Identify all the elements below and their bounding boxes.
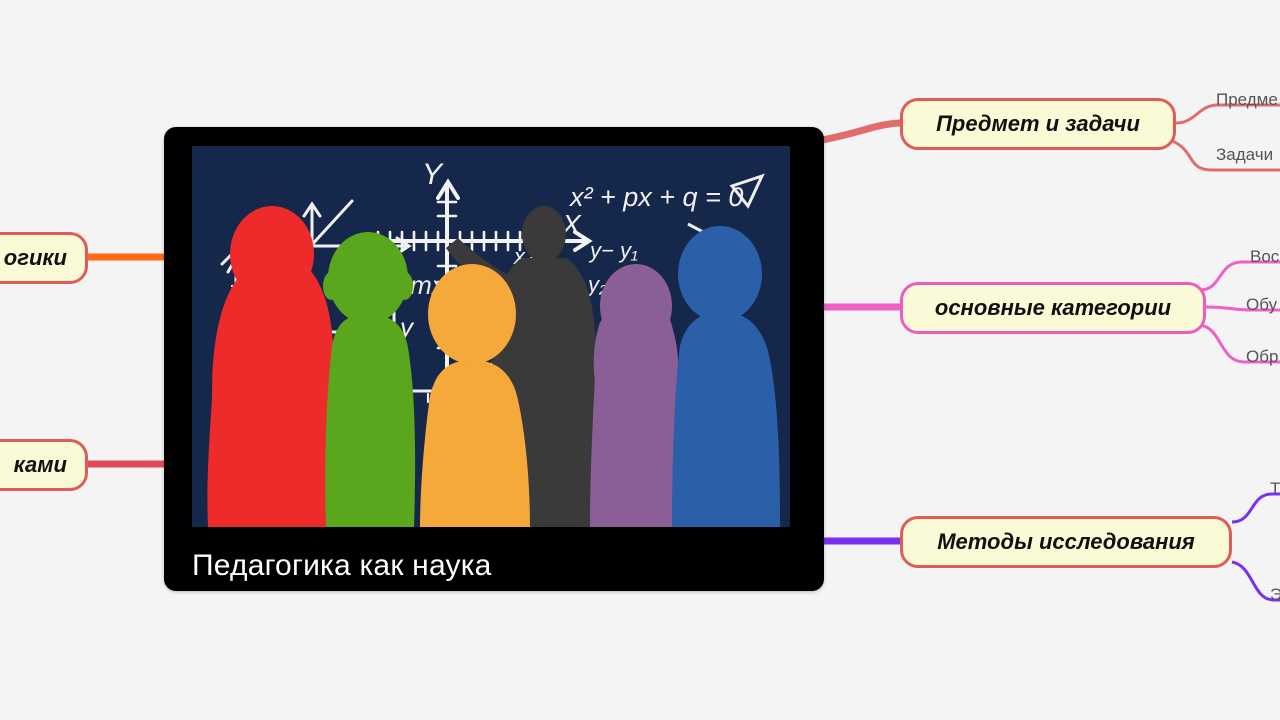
subitem-metody-0[interactable]: Т: [1270, 479, 1280, 499]
subitem-kategorii-0[interactable]: Вос: [1250, 247, 1279, 267]
center-topic-title: Педагогика как наука: [192, 549, 814, 583]
subitem-metody-1[interactable]: Э: [1270, 585, 1280, 605]
student-silhouette-green: [323, 232, 415, 527]
branch-node-predmet[interactable]: Предмет и задачи: [900, 98, 1176, 150]
branch-node-otrasli[interactable]: огики: [0, 232, 88, 284]
branch-label-kategorii: основные категории: [935, 295, 1171, 321]
branch-node-kategorii[interactable]: основные категории: [900, 282, 1206, 334]
subitem-predmet-1[interactable]: Задачи: [1216, 145, 1273, 165]
branch-label-metody: Методы исследования: [937, 529, 1195, 555]
chalkboard-illustration: Y X y=mx+c y x x x² + px + q = 0 x₁ x₂ y…: [192, 146, 790, 527]
student-silhouette-red: [207, 206, 336, 527]
link-center-to-predmet: [822, 123, 900, 140]
branch-label-svyaz: ками: [14, 452, 67, 478]
branch-label-predmet: Предмет и задачи: [936, 111, 1140, 137]
subitem-predmet-0[interactable]: Предме: [1216, 90, 1278, 110]
classroom-silhouettes: [192, 146, 790, 527]
student-silhouette-blue: [672, 226, 780, 527]
subitem-kategorii-1[interactable]: Обу: [1246, 295, 1277, 315]
subitem-kategorii-2[interactable]: Обр: [1246, 347, 1278, 367]
branch-label-otrasli: огики: [4, 245, 67, 271]
branch-node-metody[interactable]: Методы исследования: [900, 516, 1232, 568]
branch-node-svyaz[interactable]: ками: [0, 439, 88, 491]
mindmap-canvas: Y X y=mx+c y x x x² + px + q = 0 x₁ x₂ y…: [0, 0, 1280, 720]
student-silhouette-orange: [420, 264, 530, 527]
center-topic-card[interactable]: Y X y=mx+c y x x x² + px + q = 0 x₁ x₂ y…: [164, 127, 824, 591]
student-silhouette-purple: [590, 264, 678, 527]
